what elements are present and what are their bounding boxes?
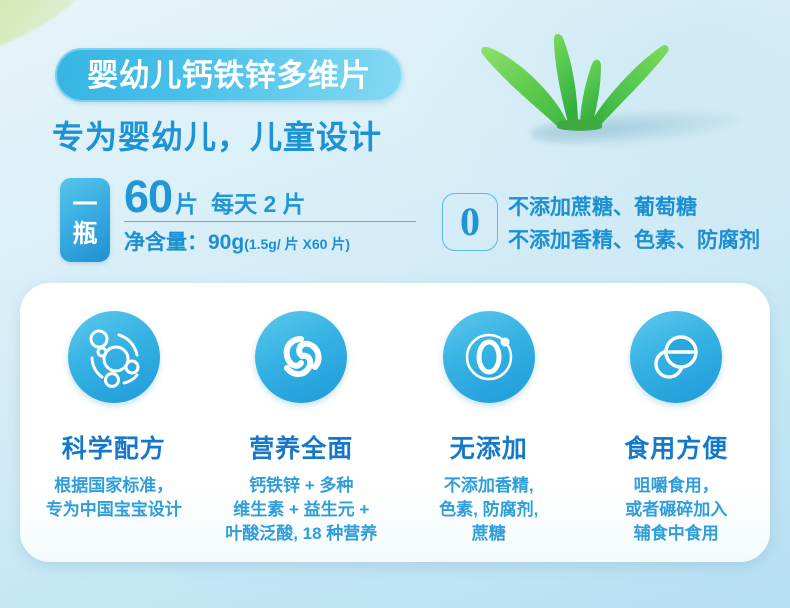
feature-no-additives: 无添加 不添加香精, 色素, 防腐剂, 蔗糖 (395, 283, 583, 562)
net-weight-detail: (1.5g/ 片 X60 片) (244, 234, 350, 254)
feature-desc-line: 根据国家标准， (46, 474, 182, 498)
feature-desc-line: 咀嚼食用， (625, 474, 727, 498)
feature-desc-line: 维生素 + 益生元 + (225, 498, 377, 522)
feature-title: 营养全面 (249, 429, 353, 465)
feature-easy-to-take: 食用方便 咀嚼食用， 或者碾碎加入 辅食中食用 (583, 283, 771, 562)
feature-desc-line: 钙铁锌 + 多种 (225, 474, 377, 498)
feature-desc-line: 不添加香精, (439, 474, 538, 498)
claim-line-preservative: 不添加香精、色素、防腐剂 (508, 225, 760, 258)
grass-plant-icon (462, 14, 762, 160)
product-title-pill: 婴幼儿钙铁锌多维片 (55, 48, 403, 102)
molecule-icon (68, 311, 160, 403)
tablet-count-line: 60 片 每天 2 片 (124, 176, 416, 222)
zero-orbit-icon (443, 311, 535, 403)
feature-scientific-formula: 科学配方 根据国家标准， 专为中国宝宝设计 (20, 283, 208, 562)
features-card: 科学配方 根据国家标准， 专为中国宝宝设计 营养全面 钙铁锌 + 多种 维 (20, 283, 770, 562)
feature-title: 科学配方 (62, 429, 166, 465)
feature-description: 咀嚼食用， 或者碾碎加入 辅食中食用 (625, 474, 727, 546)
feature-description: 根据国家标准， 专为中国宝宝设计 (46, 474, 182, 522)
plant-blade-left (481, 47, 567, 126)
product-subtitle: 专为婴幼儿，儿童设计 (52, 112, 382, 158)
page-title: 婴幼儿钙铁锌多维片 (87, 60, 371, 91)
feature-desc-line: 色素, 防腐剂, (439, 498, 538, 522)
trefoil-knot-icon (255, 311, 347, 403)
feature-title: 食用方便 (624, 429, 728, 465)
one-bottle-badge: 一 瓶 (60, 178, 110, 262)
daily-dose: 每天 2 片 (211, 185, 306, 219)
no-additive-claims: 不添加蔗糖、葡萄糖 不添加香精、色素、防腐剂 (508, 192, 760, 257)
feature-desc-line: 或者碾碎加入 (625, 498, 727, 522)
molecule-icon-svg (82, 325, 146, 389)
product-infographic: 婴幼儿钙铁锌多维片 专为婴幼儿，儿童设计 一 瓶 60 片 每天 2 片 净含量… (0, 0, 790, 608)
trefoil-knot-icon-svg (271, 327, 331, 387)
zero-orbit-icon-svg (458, 326, 520, 388)
plant-blade-right (590, 45, 669, 126)
bottle-badge-char-one: 一 (72, 191, 97, 221)
feature-desc-line: 蔗糖 (439, 522, 538, 546)
zero-badge-label: 0 (460, 202, 480, 242)
feature-desc-line: 专为中国宝宝设计 (46, 498, 182, 522)
zero-additive-badge: 0 (442, 193, 498, 251)
tablets-icon (630, 311, 722, 403)
tablets-icon-svg (645, 326, 707, 388)
specification-block: 60 片 每天 2 片 净含量：90g (1.5g/ 片 X60 片) (124, 176, 416, 256)
feature-desc-line: 叶酸泛酸, 18 种营养 (225, 522, 377, 546)
net-weight-line: 净含量：90g (1.5g/ 片 X60 片) (124, 226, 416, 256)
feature-desc-line: 辅食中食用 (625, 522, 727, 546)
bottle-badge-char-bottle: 瓶 (72, 220, 97, 250)
tablet-count: 60 (124, 176, 172, 219)
feature-title: 无添加 (450, 429, 528, 465)
net-weight: 净含量：90g (124, 226, 244, 256)
tablet-count-unit: 片 (175, 185, 198, 219)
claim-line-sugar: 不添加蔗糖、葡萄糖 (508, 192, 760, 225)
feature-description: 不添加香精, 色素, 防腐剂, 蔗糖 (439, 474, 538, 546)
plant-base (557, 120, 602, 131)
feature-description: 钙铁锌 + 多种 维生素 + 益生元 + 叶酸泛酸, 18 种营养 (225, 474, 377, 546)
feature-complete-nutrition: 营养全面 钙铁锌 + 多种 维生素 + 益生元 + 叶酸泛酸, 18 种营养 (208, 283, 396, 562)
plant-svg (462, 14, 762, 160)
